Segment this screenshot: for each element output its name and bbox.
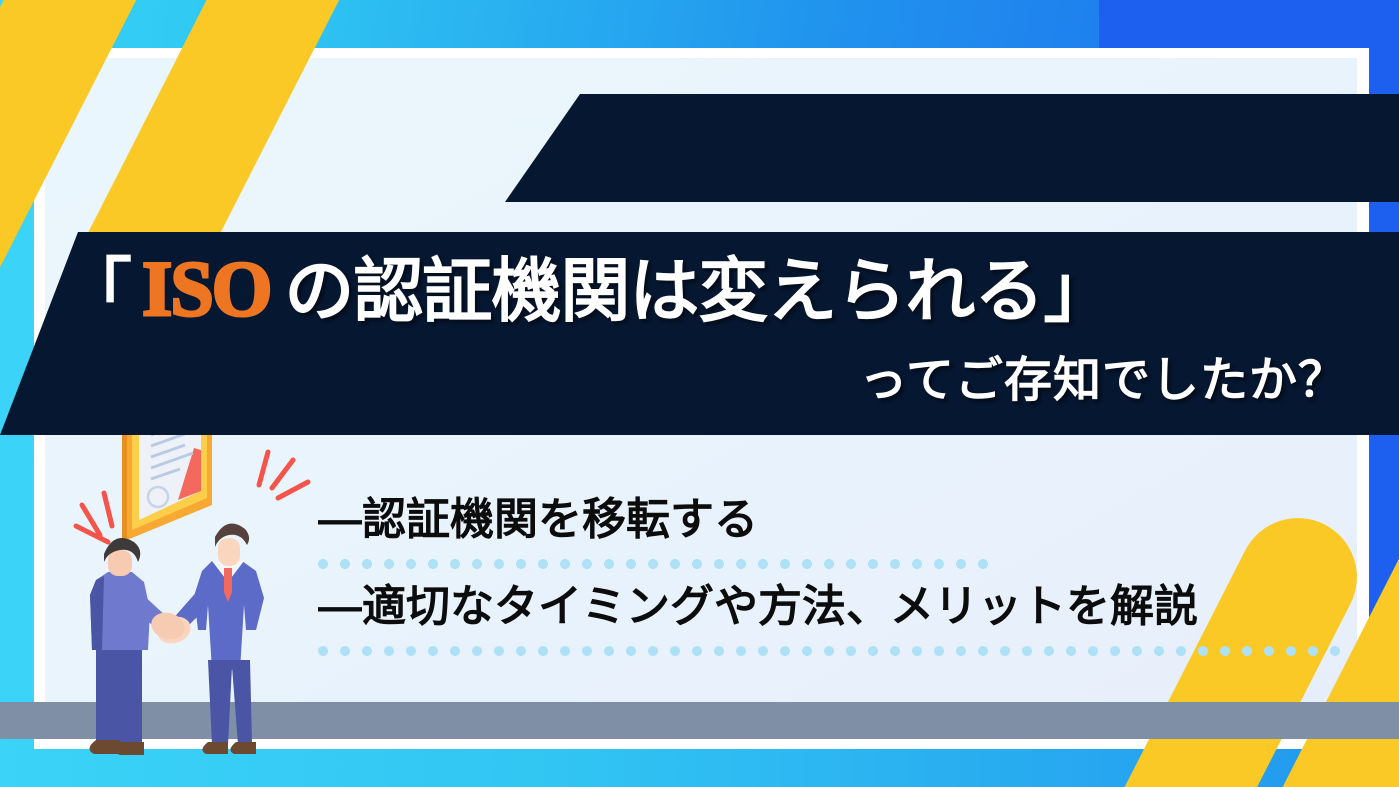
motion-lines-left [76, 493, 112, 542]
bullet-list: —認証機関を移転する —適切なタイミングや方法、メリットを解説 [318, 492, 1348, 666]
main-title-banner: 「 ISO の認証機関は変えられる」 ってご存知でしたか？ [0, 232, 1399, 435]
main-title-subtext: ってご存知でしたか？ [859, 340, 1347, 410]
slide-canvas: 認証取得中の企業様へ 「 ISO の認証機関は変えられる」 ってご存知でしたか？… [0, 0, 1399, 787]
bullet-item-1: —認証機関を移転する [318, 492, 1348, 547]
dotted-divider-2 [318, 646, 1346, 656]
motion-lines-right [259, 452, 308, 498]
bullet-item-2: —適切なタイミングや方法、メリットを解説 [318, 579, 1348, 634]
main-title-row: 「 ISO の認証機関は変えられる」 [62, 250, 1112, 328]
iso-brand-text: ISO [142, 250, 270, 328]
title-open-bracket: 「 [62, 256, 132, 326]
businessman-back-icon [89, 538, 187, 755]
dotted-divider-1 [318, 559, 1000, 569]
main-title-text: の認証機関は変えられる」 [284, 256, 1112, 326]
